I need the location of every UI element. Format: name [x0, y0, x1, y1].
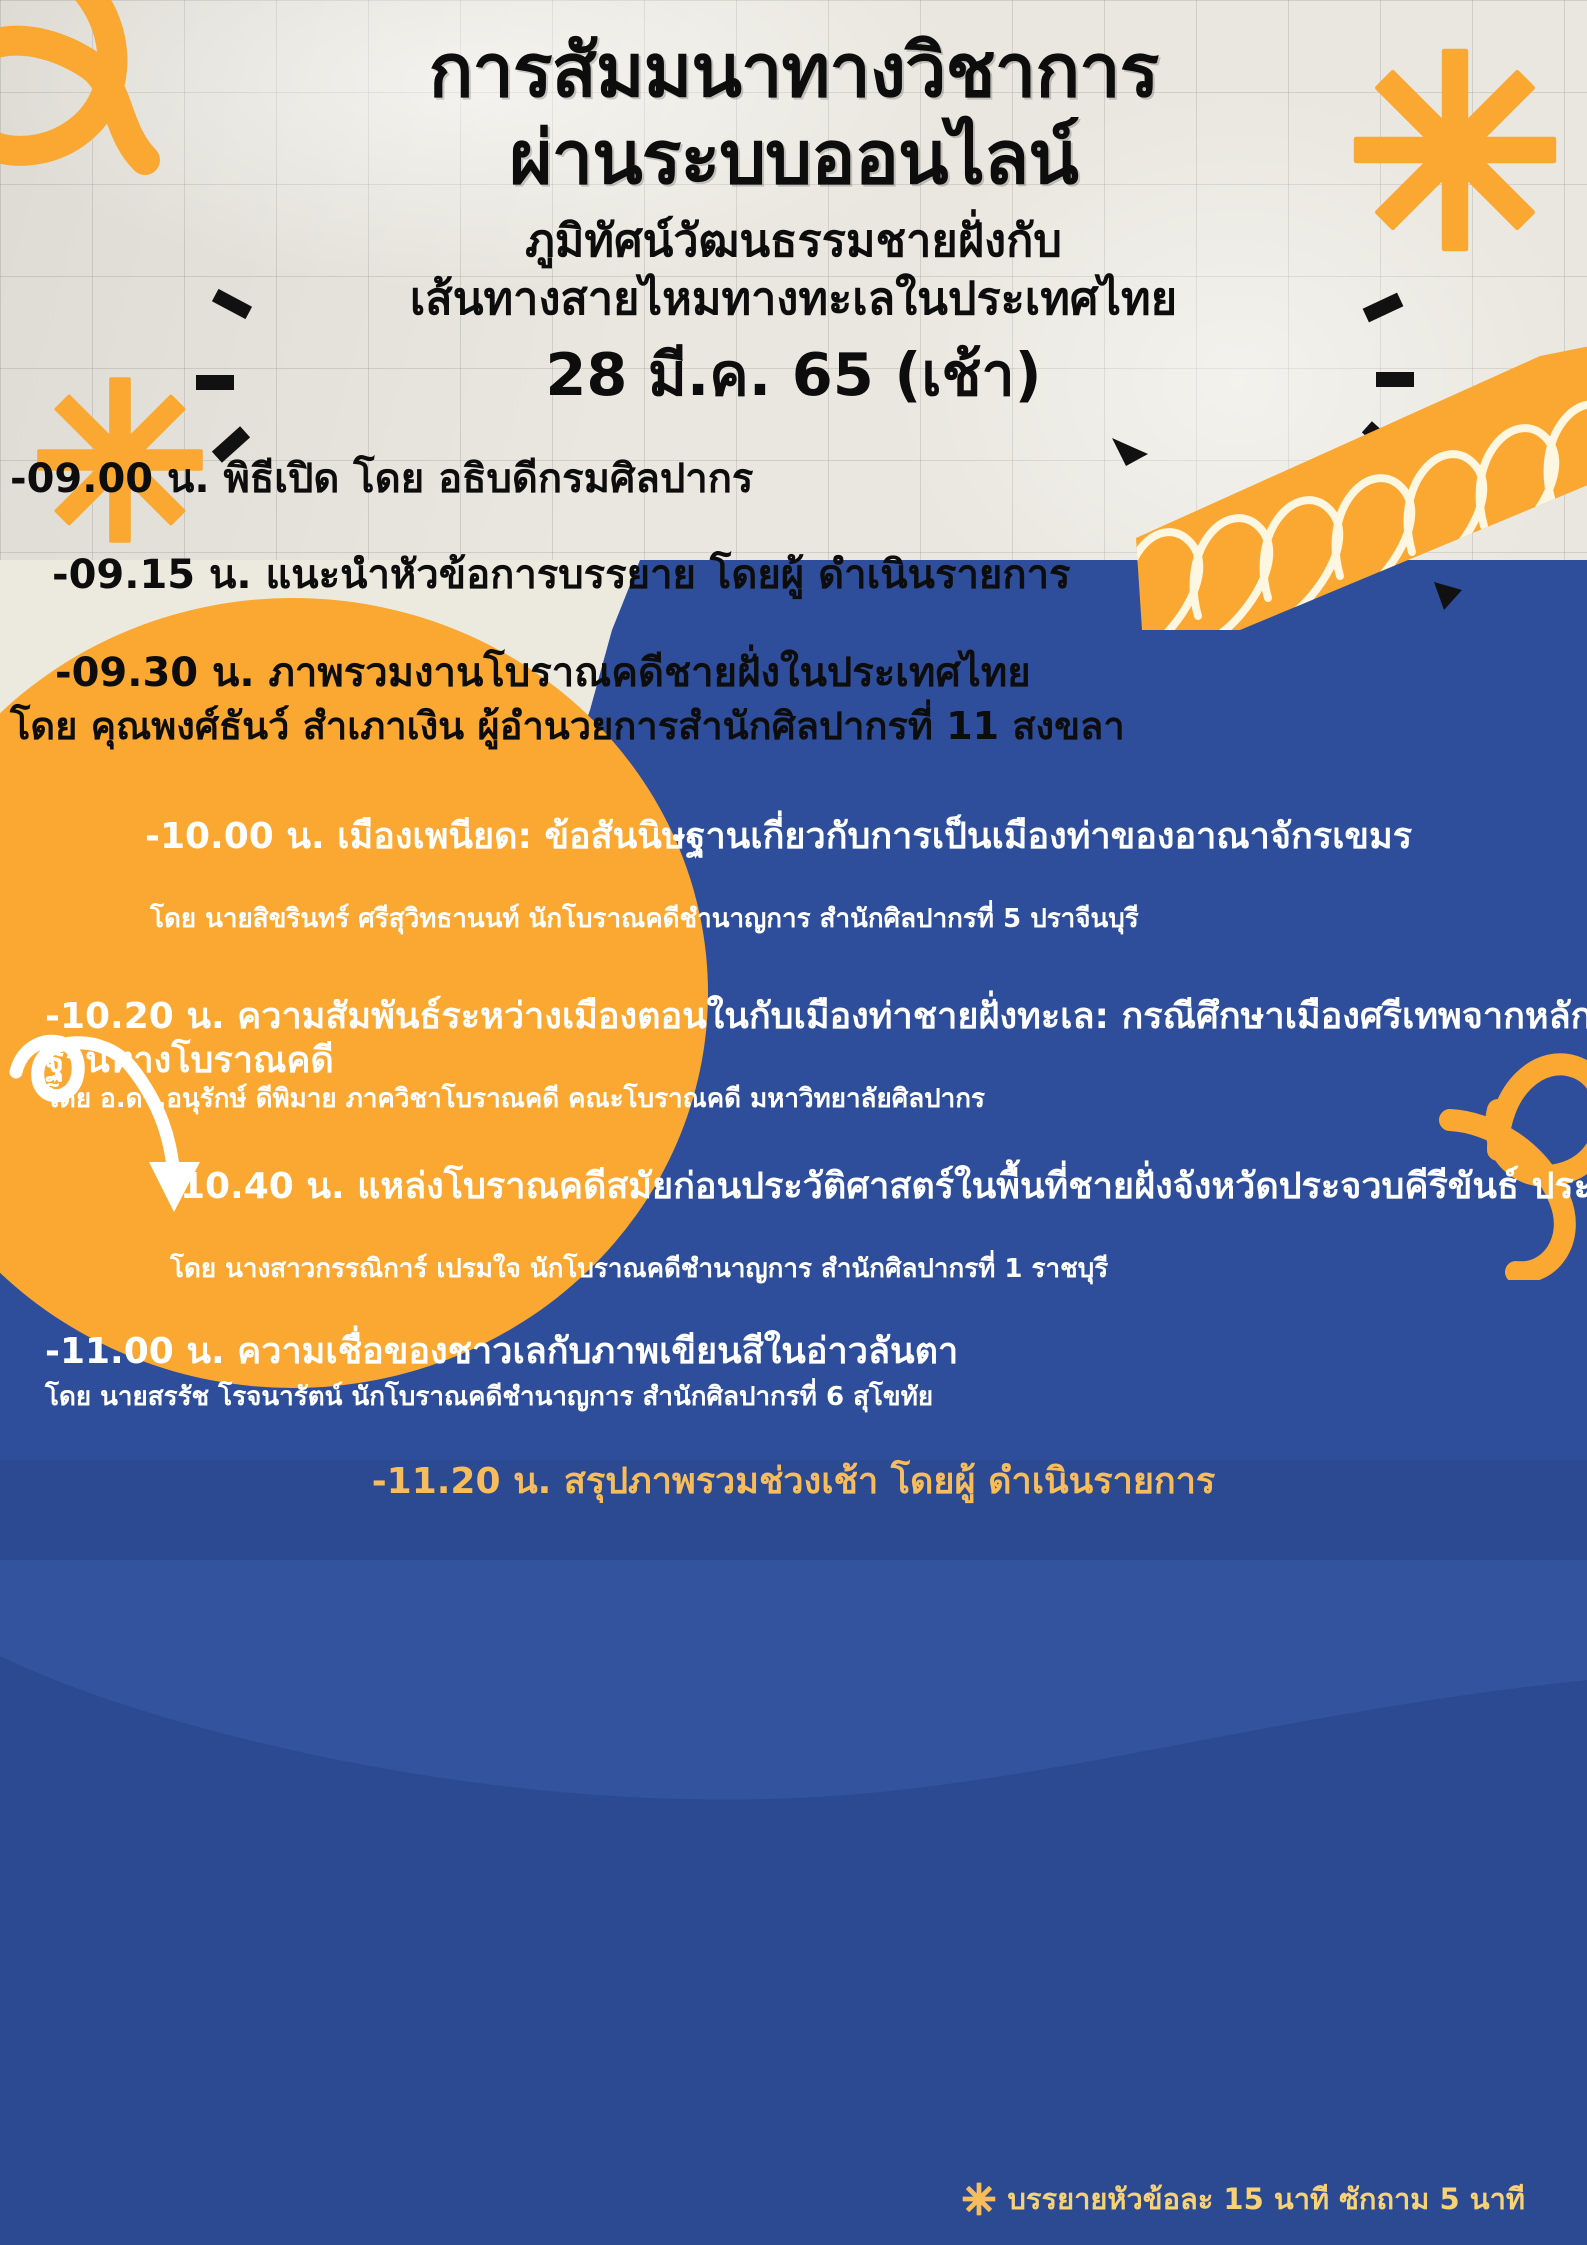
subtitle-line-1: ภูมิทัศน์วัฒนธรรมชายฝั่งกับ	[150, 212, 1437, 270]
poster-canvas: การสัมมนาทางวิชาการ ผ่านระบบออนไลน์ ภูมิ…	[0, 0, 1587, 2245]
agenda-speaker: โดย นางสาวกรรณิการ์ เปรมใจ นักโบราณคดีชำ…	[170, 1253, 1587, 1286]
agenda-speaker: โดย นายสิขรินทร์ ศรีสุวิทธานนท์ นักโบราณ…	[150, 903, 1587, 936]
agenda-headline: -09.15 น. แนะนำหัวข้อการบรรยาย โดยผู้ ดำ…	[52, 551, 1587, 600]
agenda-headline: -10.40 น. แหล่งโบราณคดีสมัยก่อนประวัติศา…	[165, 1165, 1587, 1209]
agenda-speaker: โดย อ.ดร.อนุรักษ์ ดีพิมาย ภาควิชาโบราณคด…	[45, 1083, 1587, 1116]
footnote-text: บรรยายหัวข้อละ 15 นาที ซักถาม 5 นาที	[1008, 2176, 1525, 2222]
agenda-headline: -09.00 น. พิธีเปิด โดย อธิบดีกรมศิลปากร	[10, 455, 1587, 504]
agenda-item: -09.15 น. แนะนำหัวข้อการบรรยาย โดยผู้ ดำ…	[52, 551, 1587, 600]
footnote: บรรยายหัวข้อละ 15 นาที ซักถาม 5 นาที	[962, 2176, 1525, 2222]
poster-title: การสัมมนาทางวิชาการ ผ่านระบบออนไลน์	[0, 28, 1587, 203]
agenda-speaker-row: โดย นายสิขรินทร์ ศรีสุวิทธานนท์ นักโบราณ…	[150, 903, 1587, 936]
agenda-headline: -09.30 น. ภาพรวมงานโบราณคดีชายฝั่งในประเ…	[55, 649, 1587, 698]
agenda-item: -09.00 น. พิธีเปิด โดย อธิบดีกรมศิลปากร	[10, 455, 1587, 504]
title-line-2: ผ่านระบบออนไลน์	[0, 115, 1587, 202]
agenda-speaker: โดย นายสรรัช โรจนารัตน์ นักโบราณคดีชำนาญ…	[45, 1381, 1587, 1414]
agenda-item: -10.00 น. เมืองเพนียด: ข้อสันนิษฐานเกี่ย…	[145, 815, 1587, 859]
agenda-item: -09.30 น. ภาพรวมงานโบราณคดีชายฝั่งในประเ…	[55, 649, 1587, 698]
agenda-headline: -10.20 น. ความสัมพันธ์ระหว่างเมืองตอนในก…	[45, 995, 1587, 1083]
title-line-1: การสัมมนาทางวิชาการ	[0, 28, 1587, 115]
agenda-speaker-row: โดย คุณพงศ์ธันว์ สำเภาเงิน ผู้อำนวยการสำ…	[10, 703, 1587, 751]
agenda-headline: -11.20 น. สรุปภาพรวมช่วงเช้า โดยผู้ ดำเน…	[0, 1460, 1587, 1504]
agenda-item: -10.40 น. แหล่งโบราณคดีสมัยก่อนประวัติศา…	[165, 1165, 1587, 1209]
subtitle-line-2: เส้นทางสายไหมทางทะเลในประเทศไทย	[150, 270, 1437, 328]
agenda-speaker-row: โดย อ.ดร.อนุรักษ์ ดีพิมาย ภาควิชาโบราณคด…	[45, 1083, 1587, 1116]
agenda-headline: -11.00 น. ความเชื่อของชาวเลกับภาพเขียนสี…	[45, 1330, 1587, 1374]
agenda-headline: -10.00 น. เมืองเพนียด: ข้อสันนิษฐานเกี่ย…	[145, 815, 1587, 859]
poster-subtitle: ภูมิทัศน์วัฒนธรรมชายฝั่งกับ เส้นทางสายไห…	[150, 212, 1437, 327]
agenda-speaker-row: โดย นางสาวกรรณิการ์ เปรมใจ นักโบราณคดีชำ…	[170, 1253, 1587, 1286]
event-date: 28 มี.ค. 65 (เช้า)	[0, 340, 1587, 411]
agenda-speaker: โดย คุณพงศ์ธันว์ สำเภาเงิน ผู้อำนวยการสำ…	[10, 703, 1587, 751]
agenda-item: -11.00 น. ความเชื่อของชาวเลกับภาพเขียนสี…	[45, 1330, 1587, 1374]
agenda-speaker-row: โดย นายสรรัช โรจนารัตน์ นักโบราณคดีชำนาญ…	[45, 1381, 1587, 1414]
agenda-item: -10.20 น. ความสัมพันธ์ระหว่างเมืองตอนในก…	[45, 995, 1587, 1083]
agenda-item: -11.20 น. สรุปภาพรวมช่วงเช้า โดยผู้ ดำเน…	[0, 1460, 1587, 1504]
asterisk-icon	[962, 2182, 996, 2216]
blue-wave-accent	[0, 1560, 1587, 1940]
